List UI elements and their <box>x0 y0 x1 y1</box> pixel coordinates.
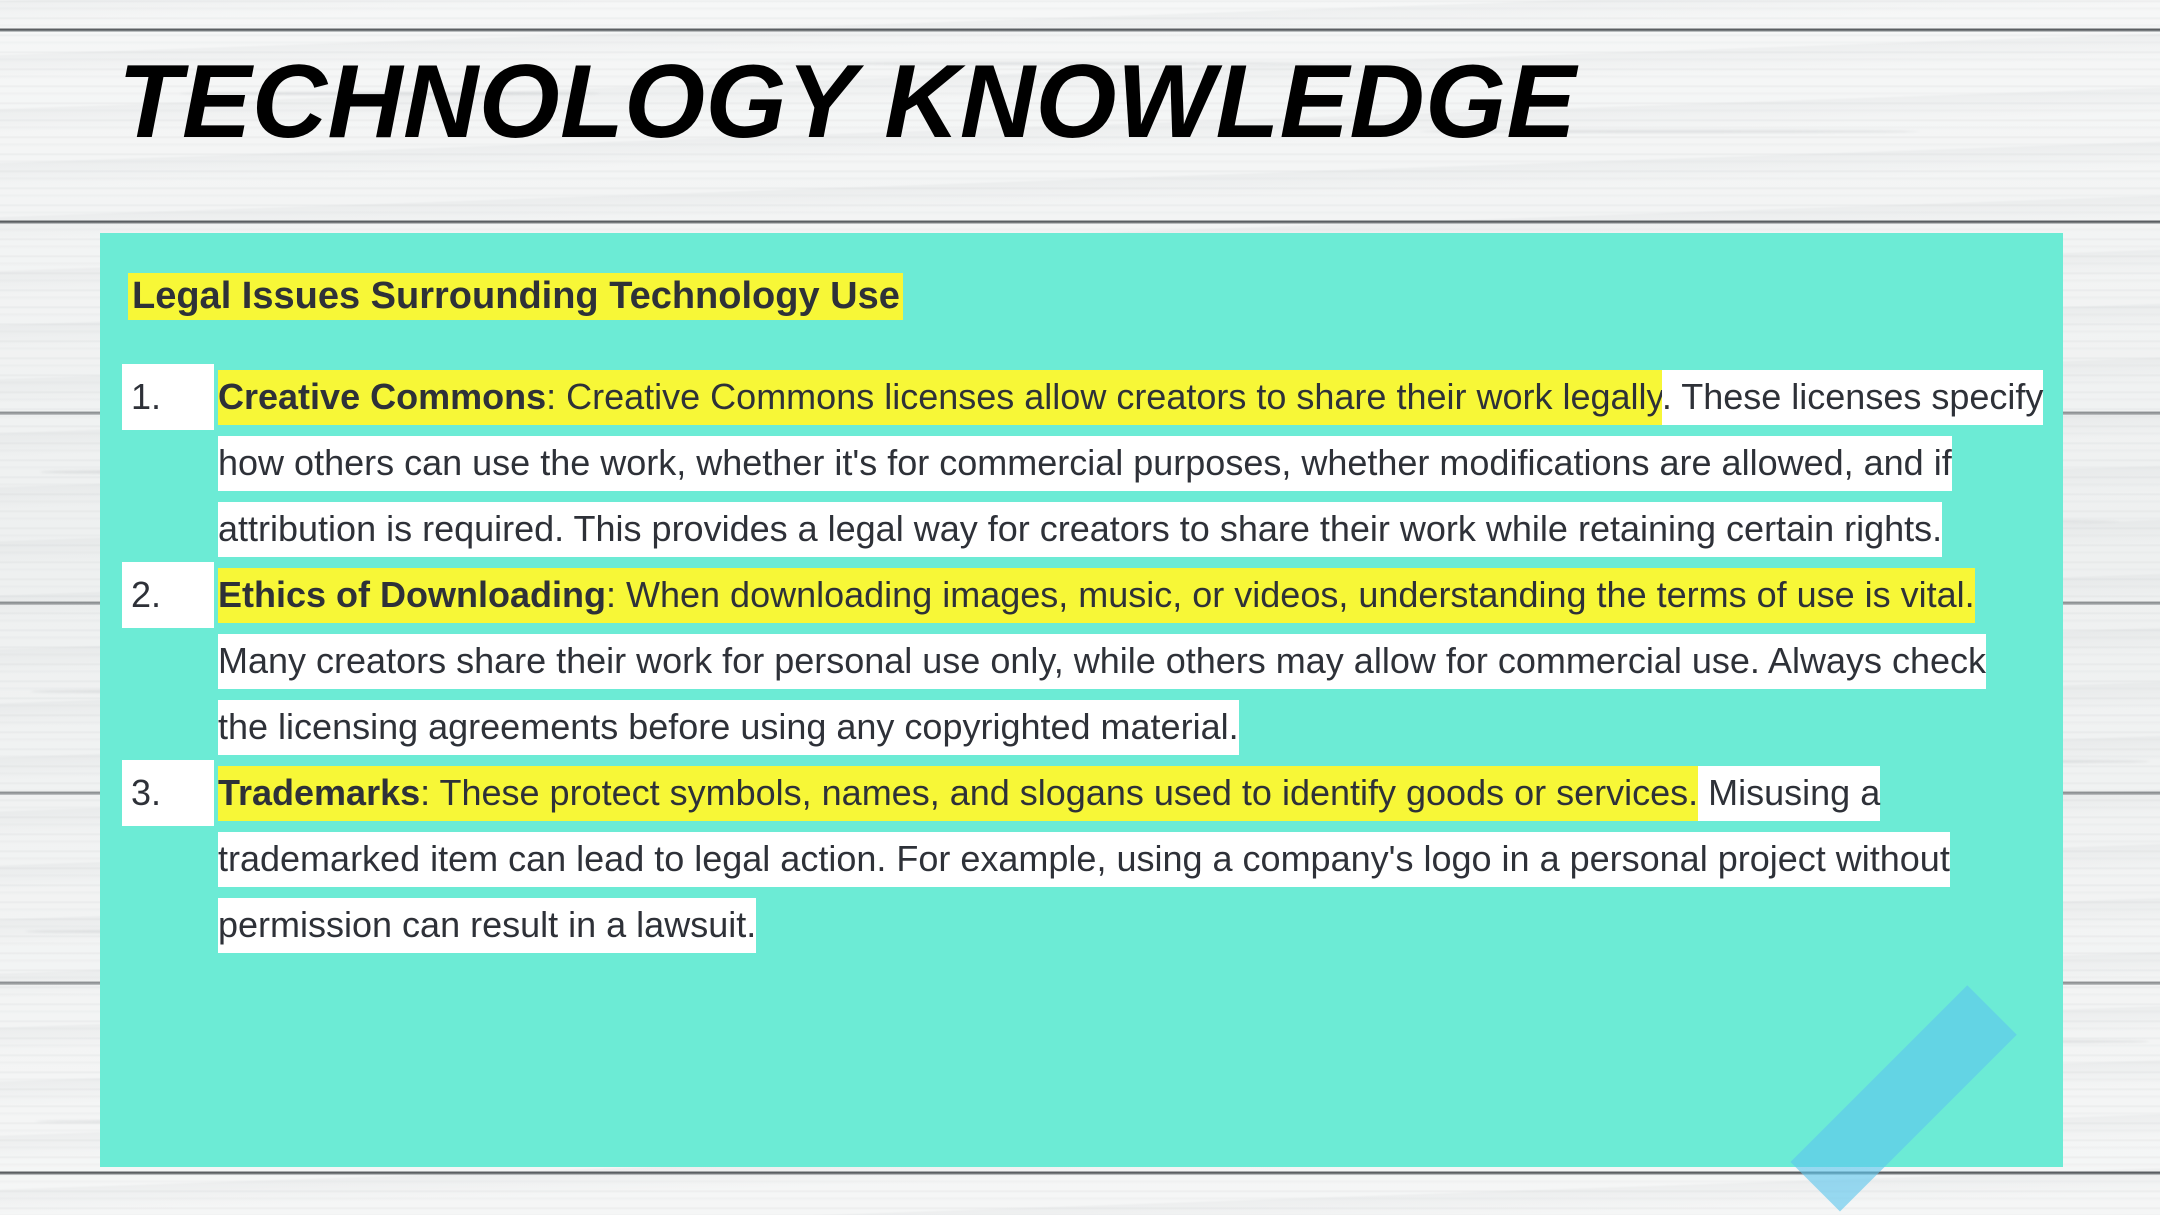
page-title: TECHNOLOGY KNOWLEDGE <box>118 22 2078 182</box>
section-heading: Legal Issues Surrounding Technology Use <box>128 273 903 320</box>
plank-divider-7 <box>0 1171 2160 1175</box>
list-item-number: 3. <box>122 760 214 826</box>
list-item-body: Many creators share their work for perso… <box>218 634 1986 755</box>
list-item: 3. Trademarks: These protect symbols, na… <box>122 760 2045 958</box>
list-item: 2. Ethics of Downloading: When downloadi… <box>122 562 2045 760</box>
slide-canvas: TECHNOLOGY KNOWLEDGE Legal Issues Surrou… <box>0 0 2160 1215</box>
panel-content: Legal Issues Surrounding Technology Use … <box>122 267 2045 958</box>
list-item-text: Ethics of Downloading: When downloading … <box>218 568 1986 755</box>
list-item-text: Creative Commons: Creative Commons licen… <box>218 370 2043 557</box>
legal-issues-list: 1. Creative Commons: Creative Commons li… <box>122 364 2045 958</box>
plank-divider-2 <box>0 220 2160 224</box>
list-item-term: Creative Commons: Creative Commons licen… <box>218 370 1662 425</box>
list-item-text: Trademarks: These protect symbols, names… <box>218 766 1950 953</box>
list-item-number: 2. <box>122 562 214 628</box>
list-item-number: 1. <box>122 364 214 430</box>
list-item: 1. Creative Commons: Creative Commons li… <box>122 364 2045 562</box>
section-heading-wrapper: Legal Issues Surrounding Technology Use <box>128 267 2045 326</box>
content-panel: Legal Issues Surrounding Technology Use … <box>100 233 2063 1167</box>
list-item-term: Trademarks: These protect symbols, names… <box>218 766 1698 821</box>
list-item-term: Ethics of Downloading: When downloading … <box>218 568 1975 623</box>
